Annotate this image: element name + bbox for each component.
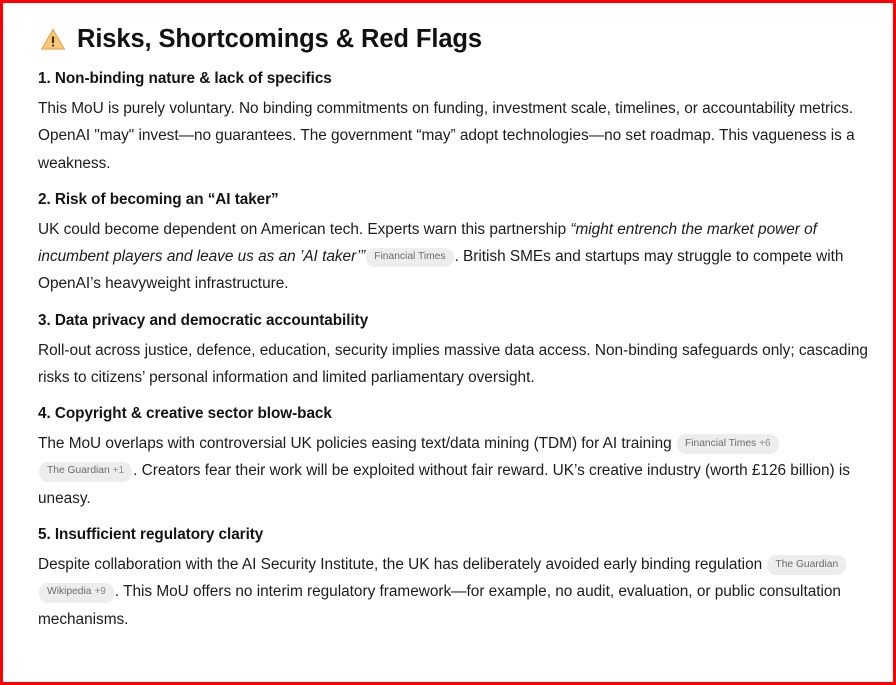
citation-badge-the-guardian[interactable]: The Guardian xyxy=(767,555,846,575)
citation-badge-wikipedia[interactable]: Wikipedia+9 xyxy=(39,583,114,603)
citation-more-count: +9 xyxy=(94,586,105,597)
section-4-heading: 4. Copyright & creative sector blow-back xyxy=(38,404,871,425)
warning-triangle-icon xyxy=(40,27,66,51)
section-3-body: Roll-out across justice, defence, educat… xyxy=(38,337,871,392)
document-page: Risks, Shortcomings & Red Flags 1. Non-b… xyxy=(0,0,896,685)
citation-source: The Guardian xyxy=(775,559,838,570)
section-1: 1. Non-binding nature & lack of specific… xyxy=(38,69,871,177)
section-5: 5. Insufficient regulatory clarity Despi… xyxy=(38,525,871,633)
citation-more-count: +6 xyxy=(759,438,770,449)
section-1-text: This MoU is purely voluntary. No binding… xyxy=(38,100,855,172)
section-5-text-lead: Despite collaboration with the AI Securi… xyxy=(38,556,766,573)
section-4-body: The MoU overlaps with controversial UK p… xyxy=(38,430,871,512)
section-4-text-lead: The MoU overlaps with controversial UK p… xyxy=(38,435,676,452)
section-5-heading: 5. Insufficient regulatory clarity xyxy=(38,525,871,546)
section-2-heading: 2. Risk of becoming an “AI taker” xyxy=(38,190,871,211)
page-title-row: Risks, Shortcomings & Red Flags xyxy=(40,25,871,53)
section-2-text-lead: UK could become dependent on American te… xyxy=(38,221,570,238)
section-1-body: This MoU is purely voluntary. No binding… xyxy=(38,95,871,177)
section-1-heading: 1. Non-binding nature & lack of specific… xyxy=(38,69,871,90)
section-3-heading: 3. Data privacy and democratic accountab… xyxy=(38,311,871,332)
citation-source: Wikipedia xyxy=(47,586,91,597)
section-3-text: Roll-out across justice, defence, educat… xyxy=(38,342,868,386)
citation-badge-the-guardian[interactable]: The Guardian+1 xyxy=(39,462,132,482)
section-2: 2. Risk of becoming an “AI taker” UK cou… xyxy=(38,190,871,298)
section-3: 3. Data privacy and democratic accountab… xyxy=(38,311,871,391)
citation-badge-financial-times[interactable]: Financial Times+6 xyxy=(677,434,779,454)
citation-badge-financial-times[interactable]: Financial Times xyxy=(366,248,453,268)
section-4: 4. Copyright & creative sector blow-back… xyxy=(38,404,871,512)
citation-source: The Guardian xyxy=(47,465,110,476)
citation-source: Financial Times xyxy=(685,438,756,449)
section-2-body: UK could become dependent on American te… xyxy=(38,216,871,298)
section-4-text-tail: . Creators fear their work will be explo… xyxy=(38,462,850,506)
section-5-text-tail: . This MoU offers no interim regulatory … xyxy=(38,583,841,627)
section-5-body: Despite collaboration with the AI Securi… xyxy=(38,551,871,633)
citation-more-count: +1 xyxy=(113,465,124,476)
page-title: Risks, Shortcomings & Red Flags xyxy=(77,25,482,53)
citation-source: Financial Times xyxy=(374,251,445,262)
